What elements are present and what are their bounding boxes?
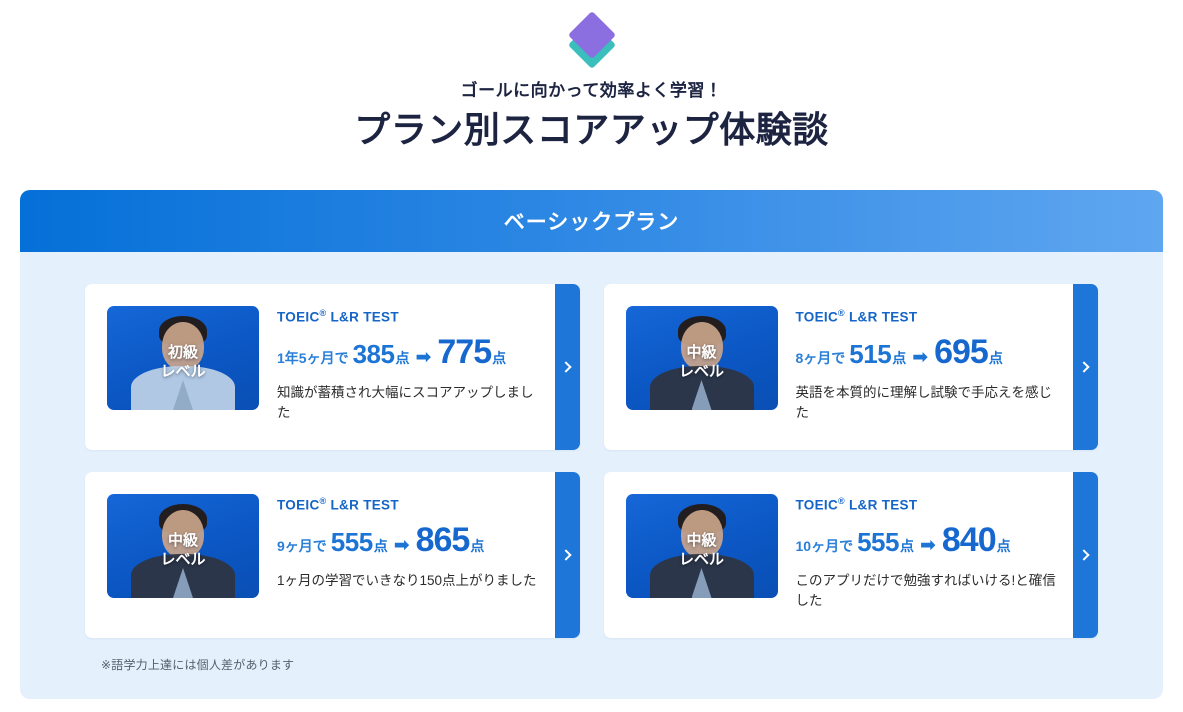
testimonial-content: TOEIC® L&R TEST 10ヶ月で 555 点 ➡ 840 点 このアプ… <box>796 494 1060 612</box>
test-name-label: TOEIC® L&R TEST <box>796 496 1060 513</box>
testimonial-card-inner: 中級 レベル TOEIC® L&R TEST 10ヶ月で 555 点 <box>604 472 1074 638</box>
level-badge-main: 中級 <box>168 532 198 549</box>
plan-footnote: ※語学力上達には個人差があります <box>85 638 1098 689</box>
score-to: 695 <box>934 333 988 372</box>
chevron-right-icon <box>560 549 571 560</box>
score-line: 10ヶ月で 555 点 ➡ 840 点 <box>796 521 1060 560</box>
card-next-button[interactable] <box>1073 472 1098 638</box>
score-duration: 1年5ヶ月で <box>277 348 349 368</box>
score-from: 385 <box>353 339 395 370</box>
score-line: 9ヶ月で 555 点 ➡ 865 点 <box>277 521 541 560</box>
testimonial-card[interactable]: 中級 レベル TOEIC® L&R TEST 8ヶ月で 515 点 <box>604 284 1099 450</box>
score-arrow-icon: ➡ <box>394 534 410 557</box>
test-name-label: TOEIC® L&R TEST <box>796 308 1060 325</box>
score-from: 555 <box>331 527 373 558</box>
test-name-text: TOEIC <box>796 310 839 325</box>
score-to: 840 <box>942 521 996 560</box>
level-badge: 中級 レベル <box>626 344 778 382</box>
test-name-text: TOEIC <box>277 310 320 325</box>
level-badge-suffix: レベル <box>160 363 205 380</box>
score-from-unit: 点 <box>374 536 388 556</box>
trademark-symbol: ® <box>838 496 845 506</box>
testimonial-card[interactable]: 中級 レベル TOEIC® L&R TEST 9ヶ月で 555 点 <box>85 472 580 638</box>
score-from: 555 <box>857 527 899 558</box>
testimonial-description: 知識が蓄積され大幅にスコアアップしました <box>277 383 541 425</box>
score-to-unit: 点 <box>989 348 1003 368</box>
test-name-rest: L&R TEST <box>845 310 917 325</box>
level-badge-suffix: レベル <box>679 551 724 568</box>
testimonial-card-inner: 初級 レベル TOEIC® L&R TEST 1年5ヶ月で 385 <box>85 284 555 450</box>
score-duration: 8ヶ月で <box>796 348 846 368</box>
testimonial-description: このアプリだけで勉強すればいける!と確信した <box>796 571 1060 613</box>
testimonial-description: 1ヶ月の学習でいきなり150点上がりました <box>277 571 541 592</box>
testimonial-card-inner: 中級 レベル TOEIC® L&R TEST 8ヶ月で 515 点 <box>604 284 1074 450</box>
level-badge-main: 中級 <box>686 344 716 361</box>
score-from: 515 <box>849 339 891 370</box>
testimonial-thumbnail: 初級 レベル <box>107 306 259 410</box>
test-name-label: TOEIC® L&R TEST <box>277 496 541 513</box>
page-root: ゴールに向かって効率よく学習！ プラン別スコアアップ体験談 ベーシックプラン <box>0 0 1183 712</box>
test-name-text: TOEIC <box>277 498 320 513</box>
plan-banner: ベーシックプラン <box>20 190 1163 252</box>
level-badge: 中級 レベル <box>107 532 259 570</box>
score-line: 8ヶ月で 515 点 ➡ 695 点 <box>796 333 1060 372</box>
testimonial-content: TOEIC® L&R TEST 9ヶ月で 555 点 ➡ 865 点 1ヶ月の学… <box>277 494 541 591</box>
chevron-right-icon <box>1078 361 1089 372</box>
page-header: ゴールに向かって効率よく学習！ プラン別スコアアップ体験談 <box>0 0 1183 150</box>
chevron-right-icon <box>1078 549 1089 560</box>
test-name-text: TOEIC <box>796 498 839 513</box>
score-from-unit: 点 <box>900 536 914 556</box>
plan-body: 初級 レベル TOEIC® L&R TEST 1年5ヶ月で 385 <box>20 252 1163 699</box>
score-from-unit: 点 <box>892 348 906 368</box>
test-name-label: TOEIC® L&R TEST <box>277 308 541 325</box>
testimonial-card[interactable]: 初級 レベル TOEIC® L&R TEST 1年5ヶ月で 385 <box>85 284 580 450</box>
testimonial-content: TOEIC® L&R TEST 1年5ヶ月で 385 点 ➡ 775 点 知識が… <box>277 306 541 424</box>
score-from-unit: 点 <box>395 348 409 368</box>
testimonial-card[interactable]: 中級 レベル TOEIC® L&R TEST 10ヶ月で 555 点 <box>604 472 1099 638</box>
level-badge-suffix: レベル <box>679 363 724 380</box>
score-to-unit: 点 <box>997 536 1011 556</box>
card-next-button[interactable] <box>555 472 580 638</box>
level-badge-suffix: レベル <box>160 551 205 568</box>
score-line: 1年5ヶ月で 385 点 ➡ 775 点 <box>277 333 541 372</box>
score-arrow-icon: ➡ <box>415 346 431 369</box>
testimonial-thumbnail: 中級 レベル <box>626 494 778 598</box>
chevron-right-icon <box>560 361 571 372</box>
score-duration: 10ヶ月で <box>796 536 854 556</box>
score-to-unit: 点 <box>470 536 484 556</box>
stacked-diamonds-logo-icon <box>561 14 623 66</box>
test-name-rest: L&R TEST <box>845 498 917 513</box>
level-badge-main: 中級 <box>686 532 716 549</box>
score-to: 775 <box>437 333 491 372</box>
score-arrow-icon: ➡ <box>920 534 936 557</box>
testimonial-description: 英語を本質的に理解し試験で手応えを感じた <box>796 383 1060 425</box>
plan-banner-label: ベーシックプラン <box>504 206 680 236</box>
testimonial-thumbnail: 中級 レベル <box>626 306 778 410</box>
card-next-button[interactable] <box>555 284 580 450</box>
page-subtitle: ゴールに向かって効率よく学習！ <box>0 76 1183 101</box>
score-arrow-icon: ➡ <box>912 346 928 369</box>
trademark-symbol: ® <box>838 308 845 318</box>
plan-section: ベーシックプラン 初級 レベル <box>20 190 1163 699</box>
score-duration: 9ヶ月で <box>277 536 327 556</box>
testimonial-card-grid: 初級 レベル TOEIC® L&R TEST 1年5ヶ月で 385 <box>85 284 1098 638</box>
level-badge-main: 初級 <box>168 344 198 361</box>
testimonial-card-inner: 中級 レベル TOEIC® L&R TEST 9ヶ月で 555 点 <box>85 472 555 638</box>
page-title: プラン別スコアアップ体験談 <box>0 109 1183 150</box>
score-to-unit: 点 <box>492 348 506 368</box>
testimonial-thumbnail: 中級 レベル <box>107 494 259 598</box>
level-badge: 中級 レベル <box>626 532 778 570</box>
testimonial-content: TOEIC® L&R TEST 8ヶ月で 515 点 ➡ 695 点 英語を本質… <box>796 306 1060 424</box>
test-name-rest: L&R TEST <box>326 310 398 325</box>
card-next-button[interactable] <box>1073 284 1098 450</box>
level-badge: 初級 レベル <box>107 344 259 382</box>
score-to: 865 <box>416 521 470 560</box>
test-name-rest: L&R TEST <box>326 498 398 513</box>
